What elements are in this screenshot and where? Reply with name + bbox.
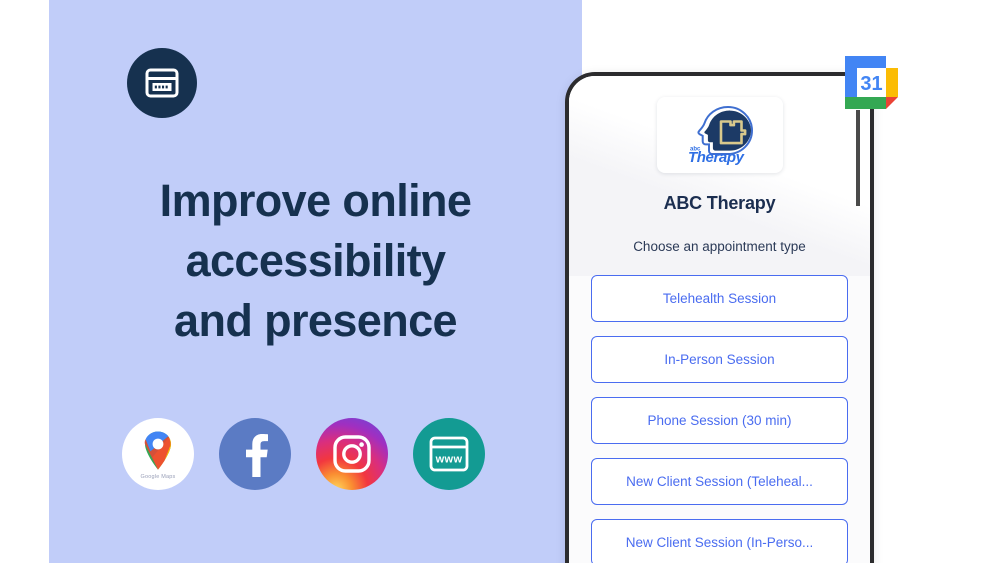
svg-text:Therapy: Therapy — [688, 149, 745, 166]
svg-text:www: www — [435, 454, 463, 466]
appointment-type-button[interactable]: New Client Session (In-Perso... — [591, 519, 848, 563]
google-calendar-icon: 31 — [843, 54, 900, 111]
promo-graphic: Improve online accessibility and presenc… — [0, 0, 1000, 563]
appointment-type-button[interactable]: Telehealth Session — [591, 275, 848, 322]
google-maps-icon[interactable]: Google Maps — [122, 418, 194, 490]
website-www-icon[interactable]: www — [413, 418, 485, 490]
abc-therapy-logo-icon: abc Therapy — [668, 104, 772, 166]
phone-screen: abc Therapy ABC Therapy Choose an appoin… — [569, 76, 870, 563]
social-icon-row: Google Maps w — [122, 418, 542, 490]
calendar-day-number: 31 — [860, 73, 882, 95]
headline-line-1: Improve online — [49, 171, 582, 231]
appointment-prompt: Choose an appointment type — [569, 239, 870, 254]
website-window-icon — [145, 68, 179, 98]
appointment-type-list: Telehealth Session In-Person Session Pho… — [591, 275, 848, 563]
appointment-type-button[interactable]: In-Person Session — [591, 336, 848, 383]
facebook-icon[interactable] — [219, 418, 291, 490]
appointment-type-button[interactable]: New Client Session (Teleheal... — [591, 458, 848, 505]
instagram-icon[interactable] — [316, 418, 388, 490]
business-name: ABC Therapy — [569, 193, 870, 214]
phone-mockup: abc Therapy ABC Therapy Choose an appoin… — [565, 72, 874, 563]
website-window-badge — [127, 48, 197, 118]
business-logo-card: abc Therapy — [657, 97, 783, 173]
appointment-type-button[interactable]: Phone Session (30 min) — [591, 397, 848, 444]
google-maps-label: Google Maps — [122, 474, 194, 480]
headline: Improve online accessibility and presenc… — [49, 171, 582, 351]
headline-line-3: and presence — [49, 291, 582, 351]
calendar-badge-stem — [856, 110, 860, 206]
headline-line-2: accessibility — [49, 231, 582, 291]
left-feature-panel: Improve online accessibility and presenc… — [49, 0, 582, 563]
